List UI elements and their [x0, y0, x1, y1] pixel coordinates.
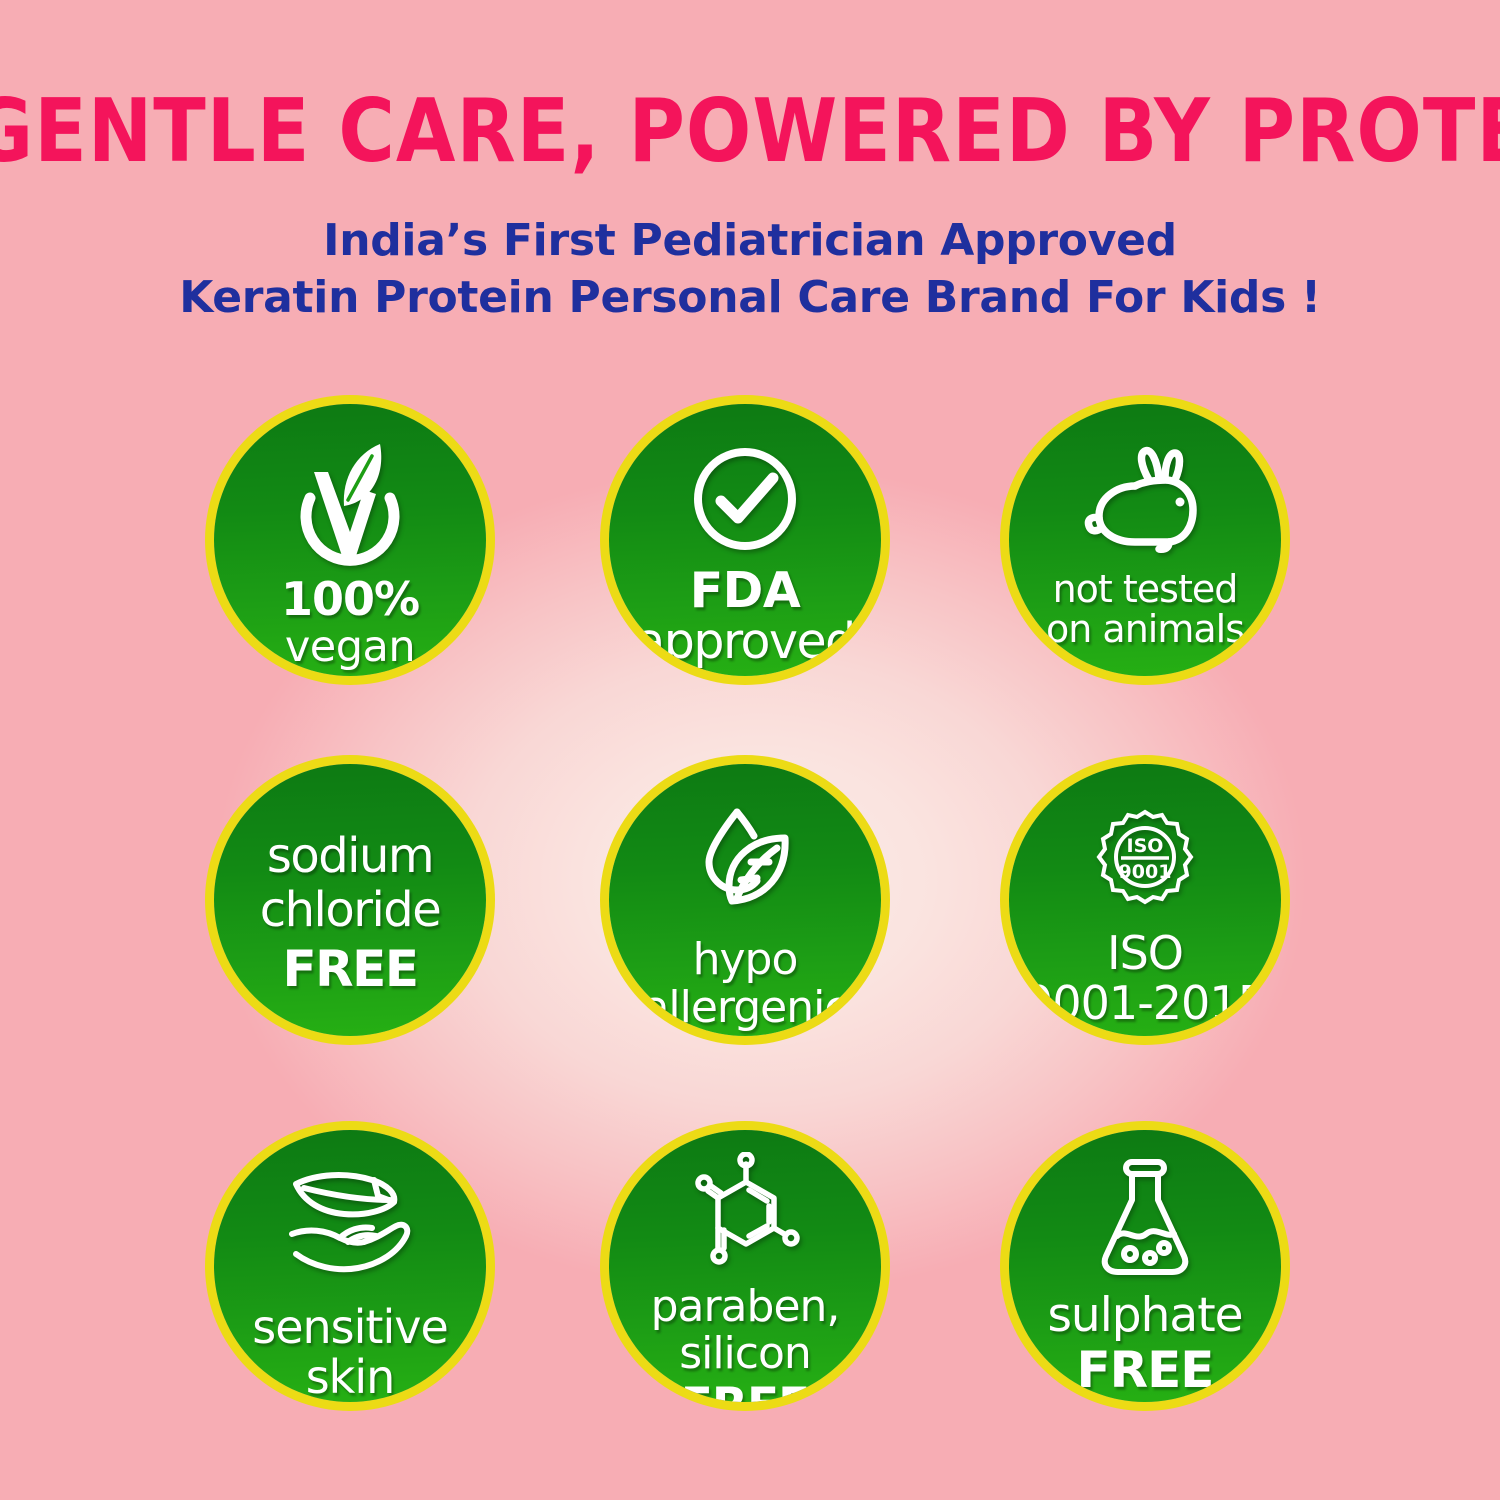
badge-hypo-line-2: allergenic	[642, 986, 847, 1030]
badge-sulphate-free[interactable]: sulphate FREE	[1009, 1130, 1281, 1402]
badge-vegan-line-2: vegan	[281, 626, 419, 669]
badge-sodium-label: sodium chloride FREE	[254, 826, 447, 994]
molecule-icon	[686, 1152, 804, 1274]
badge-sulphate-line-1: sulphate	[1047, 1292, 1242, 1339]
badge-paraben-silicon-free[interactable]: paraben, silicon FREE	[609, 1130, 881, 1402]
badge-sodium-line-1: sodium	[260, 832, 441, 880]
badge-fda-label: FDA approved	[629, 566, 861, 666]
iso-seal-bottom-text: 9001	[1119, 861, 1172, 883]
badge-sensitive-line-2: skin	[252, 1354, 448, 1400]
badge-animals-label: not tested on animals	[1040, 568, 1250, 648]
droplet-leaf-icon	[685, 800, 805, 920]
certification-badge-grid: 100% vegan FDA approved	[0, 396, 1500, 1476]
page-title: GENTLE CARE, POWERED BY PROTEIN	[0, 88, 1500, 175]
iso-seal-top-text: ISO	[1127, 835, 1164, 857]
poster-background: GENTLE CARE, POWERED BY PROTEIN India’s …	[0, 0, 1500, 1500]
badge-animals-line-1: not tested	[1046, 570, 1244, 608]
circle-check-icon	[690, 444, 800, 554]
badge-iso-line-1: ISO	[1024, 930, 1266, 976]
badge-sensitive-label: sensitive skin	[246, 1300, 454, 1400]
badge-fda-line-1: FDA	[635, 566, 855, 615]
badge-hypo-label: hypo allergenic	[636, 934, 853, 1030]
rabbit-icon	[1083, 446, 1207, 556]
badge-sulphate-line-2: FREE	[1047, 1345, 1242, 1395]
badge-sodium-chloride-free[interactable]: sodium chloride FREE	[214, 764, 486, 1036]
badge-sodium-line-3: FREE	[260, 944, 441, 994]
flask-icon	[1092, 1156, 1198, 1278]
badge-paraben-line-3: FREE	[651, 1382, 840, 1402]
subtitle: India’s First Pediatrician Approved Kera…	[0, 213, 1500, 327]
badge-not-tested-on-animals[interactable]: not tested on animals	[1009, 404, 1281, 676]
badge-iso-9001[interactable]: ISO 9001 ISO 9001-2015	[1009, 764, 1281, 1036]
badge-fda-line-2: approved	[635, 617, 855, 666]
badge-vegan[interactable]: 100% vegan	[214, 404, 486, 676]
badge-sensitive-line-1: sensitive	[252, 1304, 448, 1350]
iso-seal-icon: ISO 9001	[1093, 808, 1197, 912]
leaf-check-vegan-icon	[284, 440, 416, 566]
badge-sulphate-label: sulphate FREE	[1041, 1292, 1248, 1395]
badge-vegan-label: 100% vegan	[275, 576, 425, 669]
badge-iso-line-2: 9001-2015	[1024, 980, 1266, 1026]
badge-iso-label: ISO 9001-2015	[1018, 926, 1272, 1026]
badge-hypoallergenic[interactable]: hypo allergenic	[609, 764, 881, 1036]
subtitle-line-1: India’s First Pediatrician Approved	[0, 213, 1500, 270]
badge-animals-line-2: on animals	[1046, 610, 1244, 648]
badge-hypo-line-1: hypo	[642, 938, 847, 982]
badge-sodium-line-2: chloride	[260, 886, 441, 934]
badge-paraben-line-2: silicon	[651, 1332, 840, 1376]
badge-fda-approved[interactable]: FDA approved	[609, 404, 881, 676]
badge-sensitive-skin[interactable]: sensitive skin	[214, 1130, 486, 1402]
badge-vegan-line-1: 100%	[281, 576, 419, 622]
badge-paraben-line-1: paraben,	[651, 1285, 840, 1329]
leaf-in-hand-icon	[282, 1168, 418, 1280]
badge-paraben-label: paraben, silicon FREE	[645, 1282, 846, 1402]
subtitle-line-2: Keratin Protein Personal Care Brand For …	[0, 270, 1500, 327]
